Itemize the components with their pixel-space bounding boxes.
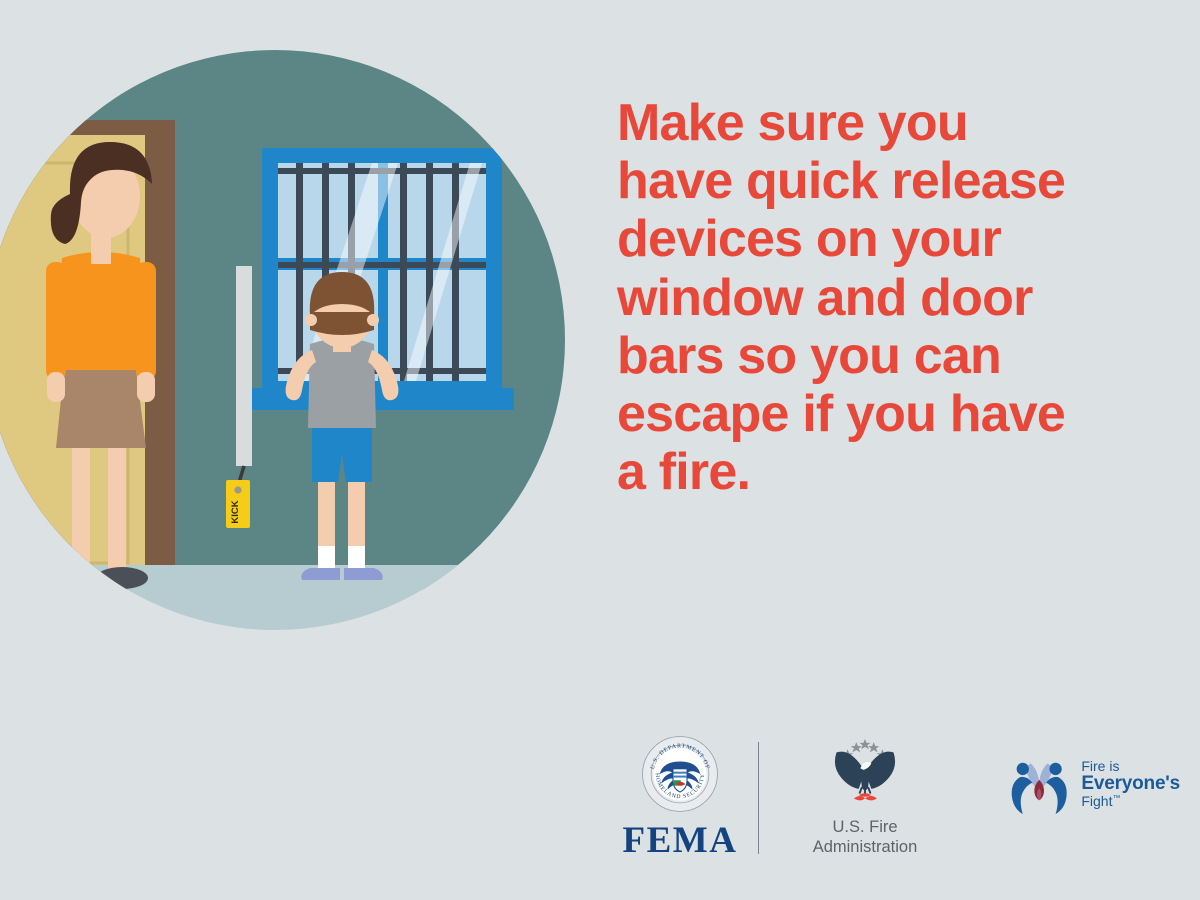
headline-text: Make sure you have quick release devices… <box>617 94 1137 502</box>
fema-wordmark: FEMA <box>610 822 750 859</box>
feif-head-left <box>1017 763 1029 775</box>
feif-trademark: ™ <box>1112 793 1120 802</box>
woman-leg-right <box>108 440 126 575</box>
floor <box>0 565 600 690</box>
woman-shoe-left <box>54 567 102 589</box>
boy-sock-right <box>348 546 365 568</box>
usfa-wordmark: U.S. Fire Administration <box>785 818 945 858</box>
boy-hair-lower <box>310 312 374 335</box>
feif-line2: Everyone's <box>1081 774 1180 794</box>
boy-ear-left <box>305 314 317 326</box>
illustration-scene: KICK <box>0 0 600 690</box>
boy-shoe-left <box>301 568 340 580</box>
feif-line1: Fire is <box>1081 759 1180 774</box>
woman-sweater <box>52 252 148 370</box>
usfa-eagle-body <box>860 767 870 790</box>
feif-line3-text: Fight <box>1081 793 1112 809</box>
release-rod <box>236 266 252 466</box>
usfa-flames <box>854 793 877 800</box>
tag-label: KICK <box>230 500 241 523</box>
woman-leg-left <box>72 440 90 575</box>
feif-figures-icon <box>1005 751 1073 817</box>
boy-ear-right <box>367 314 379 326</box>
feif-body-left <box>1012 777 1033 814</box>
woman-shoe-right <box>96 567 148 589</box>
woman-arm-right <box>136 262 156 380</box>
logo-bar: U.S. DEPARTMENT OF HOMELAND SECURITY FEM… <box>600 735 1180 865</box>
feif-line3: Fight™ <box>1081 794 1180 809</box>
woman-skirt <box>56 370 146 448</box>
dhs-seal-icon: U.S. DEPARTMENT OF HOMELAND SECURITY <box>641 735 719 813</box>
woman-hand-right <box>137 372 155 402</box>
boy-sock-left <box>318 546 335 568</box>
woman-arm-left <box>46 262 66 380</box>
logo-divider <box>758 742 759 854</box>
feif-head-right <box>1049 763 1061 775</box>
boy-shoe-right <box>344 568 383 580</box>
tag-grommet <box>234 486 241 493</box>
fema-logo: U.S. DEPARTMENT OF HOMELAND SECURITY FEM… <box>610 735 750 859</box>
feif-body-right <box>1046 777 1067 814</box>
usfa-eagle-icon <box>817 735 913 811</box>
fire-is-everyones-fight-logo: Fire is Everyone's Fight™ <box>1005 751 1180 817</box>
woman-hand-left <box>47 372 65 402</box>
usfa-logo: U.S. Fire Administration <box>785 735 945 858</box>
